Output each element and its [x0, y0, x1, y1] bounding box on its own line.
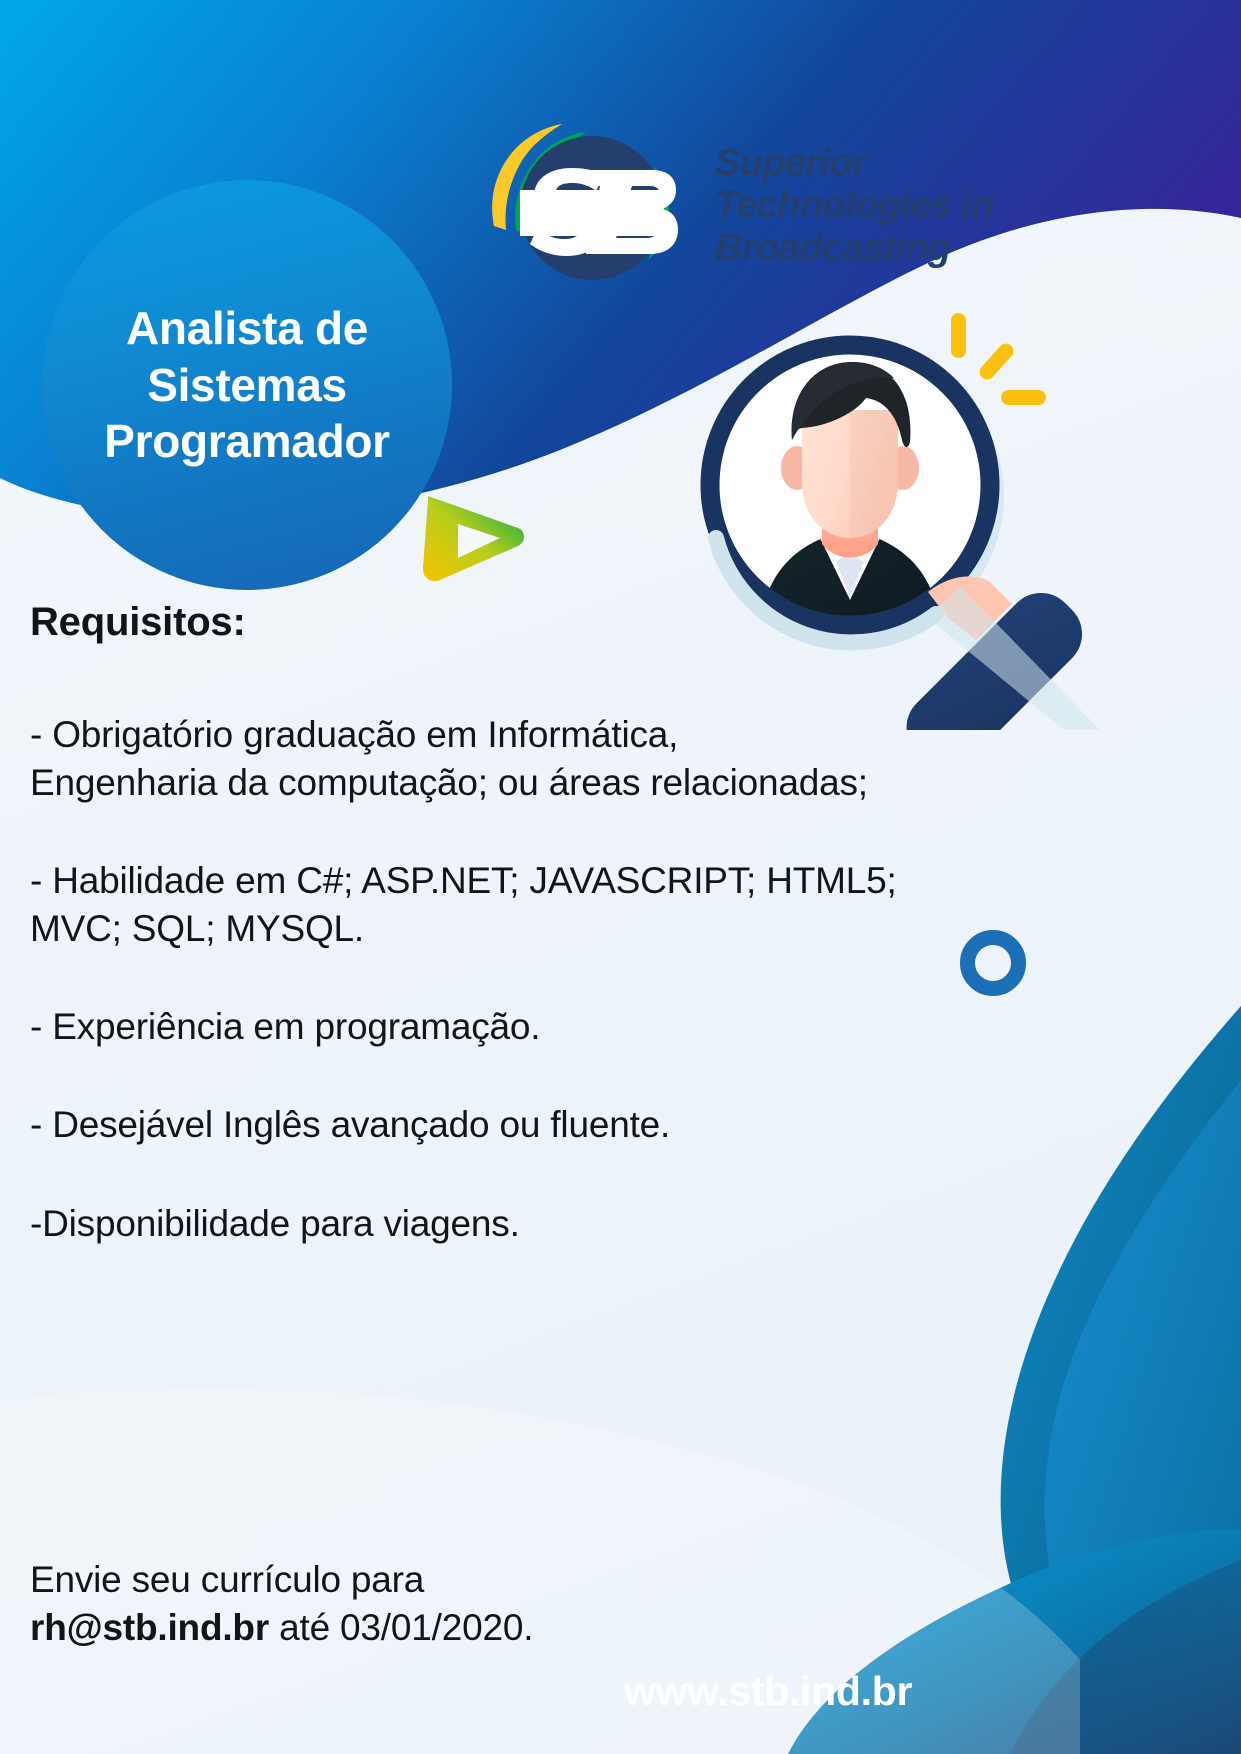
- stb-logo-text: Superior Technologies in Broadcasting: [715, 142, 994, 270]
- contact-section: Envie seu currículo para rh@stb.ind.br a…: [30, 1556, 533, 1652]
- job-title-bubble: Analista de Sistemas Programador: [42, 180, 452, 590]
- contact-line-2: rh@stb.ind.br até 03/01/2020.: [30, 1604, 533, 1652]
- play-triangle-icon: [414, 480, 524, 590]
- requirement-item: - Experiência em programação.: [30, 1003, 1040, 1051]
- requirement-item: - Habilidade em C#; ASP.NET; JAVASCRIPT;…: [30, 857, 1040, 953]
- website-url[interactable]: www.stb.ind.br: [624, 1668, 912, 1715]
- requirement-item: - Obrigatório graduação em Informática, …: [30, 711, 1040, 807]
- stb-logo: Superior Technologies in Broadcasting: [486, 118, 994, 293]
- application-deadline: até 03/01/2020.: [269, 1607, 533, 1648]
- requirement-item: -Disponibilidade para viagens.: [30, 1200, 1040, 1248]
- sparkle-horizontal-icon: [1001, 390, 1046, 405]
- job-posting-poster: Analista de Sistemas Programador: [0, 0, 1241, 1754]
- job-title-text: Analista de Sistemas Programador: [42, 300, 452, 470]
- contact-email[interactable]: rh@stb.ind.br: [30, 1607, 269, 1648]
- sparkle-vertical-icon: [951, 313, 966, 358]
- requirements-heading: Requisitos:: [30, 600, 1040, 645]
- requirement-item: - Desejável Inglês avançado ou fluente.: [30, 1101, 1040, 1149]
- contact-instruction: Envie seu currículo para: [30, 1556, 533, 1604]
- requirements-section: Requisitos: - Obrigatório graduação em I…: [30, 600, 1040, 1298]
- stb-logo-mark-icon: [486, 118, 701, 293]
